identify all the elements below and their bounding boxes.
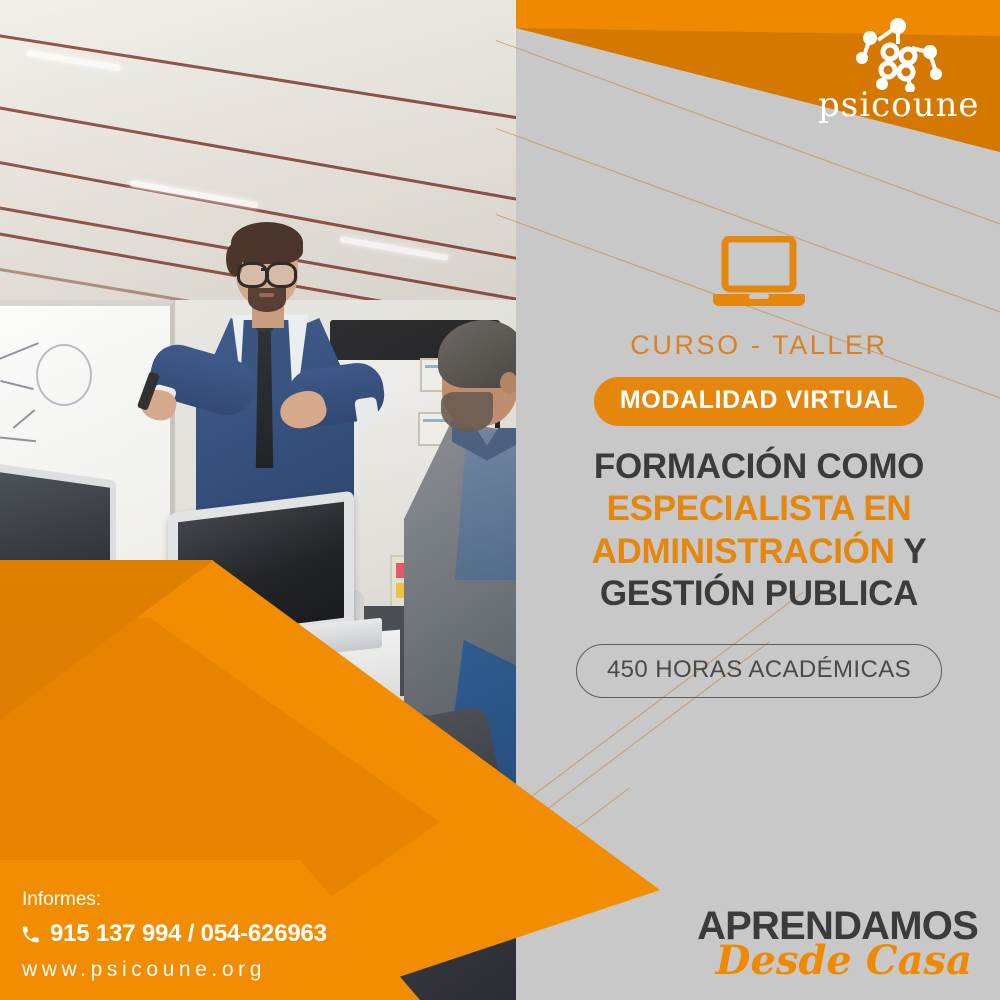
- phone-icon: [20, 924, 41, 945]
- molecule-icon: [852, 18, 944, 92]
- modality-badge: MODALIDAD VIRTUAL: [594, 377, 924, 426]
- page-title: FORMACIÓN COMO ESPECIALISTA EN ADMINISTR…: [556, 446, 962, 615]
- website-url[interactable]: www.psicoune.org: [22, 958, 327, 982]
- brand-logo[interactable]: psicoune: [818, 18, 978, 122]
- academic-hours-badge: 450 HORAS ACADÉMICAS: [576, 644, 942, 698]
- headline-line-3-suffix: Y: [903, 532, 926, 571]
- headline-line-1: FORMACIÓN COMO: [594, 447, 924, 486]
- contact-label: Informes:: [22, 889, 327, 911]
- phone-numbers: 915 137 994 / 054-626963: [50, 920, 327, 948]
- headline-line-3-highlight: ADMINISTRACIÓN: [592, 532, 895, 571]
- course-info-block: CURSO - TALLER MODALIDAD VIRTUAL FORMACI…: [556, 236, 962, 698]
- contact-block: Informes: 915 137 994 / 054-626963 www.p…: [20, 889, 327, 984]
- contact-phone[interactable]: 915 137 994 / 054-626963: [20, 920, 327, 948]
- course-kicker: CURSO - TALLER: [556, 330, 962, 361]
- promotional-poster: AT 500: [0, 0, 1000, 1000]
- tagline-line-2: Desde Casa: [697, 942, 972, 980]
- laptop-icon: [713, 236, 805, 308]
- headline-line-4: GESTIÓN PUBLICA: [600, 574, 918, 613]
- brand-name: psicoune: [818, 88, 978, 122]
- headline-line-2: ESPECIALISTA EN: [607, 489, 912, 528]
- tagline-block: APRENDAMOS Desde Casa: [697, 906, 978, 980]
